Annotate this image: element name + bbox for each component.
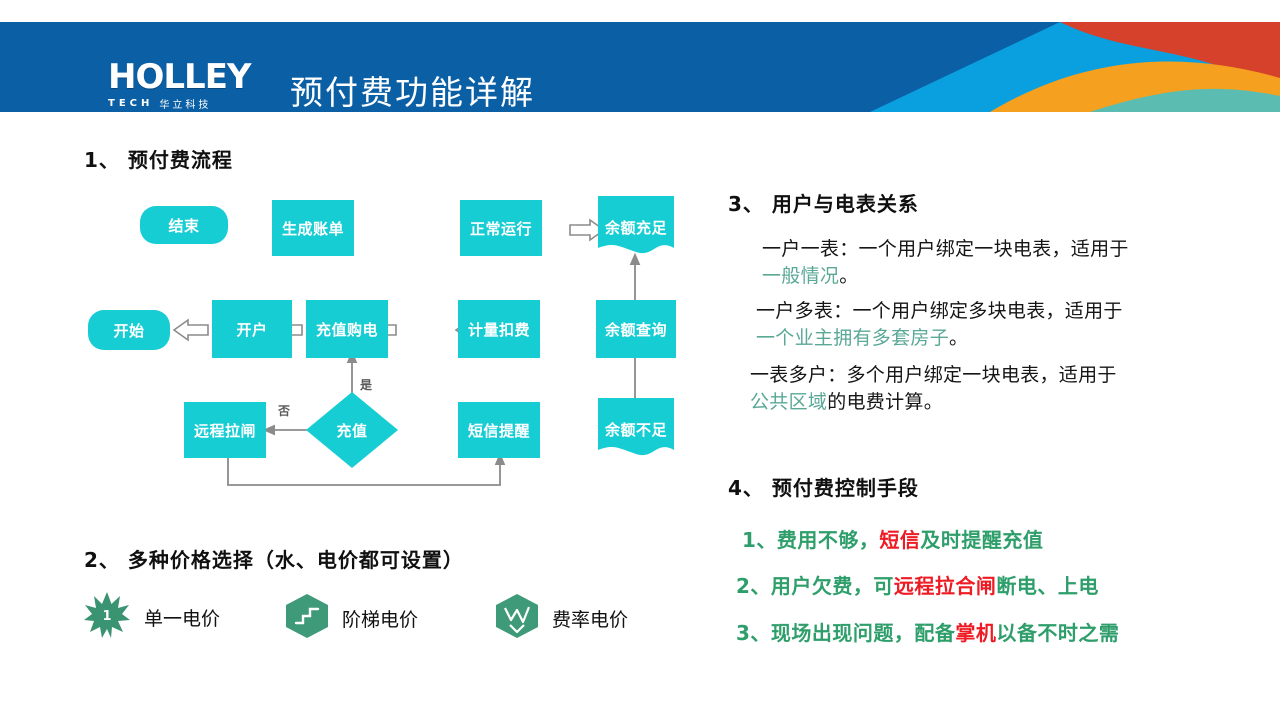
flow-node-sms-reminder: 短信提醒 bbox=[458, 402, 540, 458]
control-item-1: 1、费用不够，短信及时提醒充值 bbox=[742, 524, 1043, 553]
flow-node-start-label: 开始 bbox=[113, 320, 144, 341]
flow-node-balance-sufficient: 余额充足 bbox=[598, 196, 674, 258]
price-option-rate: 费率电价 bbox=[496, 594, 628, 642]
flow-node-open-account: 开户 bbox=[212, 300, 292, 358]
control-item-3-highlight: 掌机 bbox=[955, 621, 996, 645]
flow-node-sms-reminder-label: 短信提醒 bbox=[468, 420, 530, 441]
price-option-tiered-label: 阶梯电价 bbox=[342, 605, 418, 632]
price-option-rate-label: 费率电价 bbox=[552, 605, 628, 632]
relation-item-many-to-one-highlight: 公共区域 bbox=[750, 391, 827, 413]
price-option-single: 1 单一电价 bbox=[84, 592, 220, 642]
section-heading-prepay-flow: 1、 预付费流程 bbox=[84, 144, 233, 173]
control-item-2-post: 断电、上电 bbox=[996, 574, 1099, 598]
page-title: 预付费功能详解 bbox=[290, 66, 535, 112]
control-item-2-highlight: 远程拉合闸 bbox=[894, 574, 997, 598]
control-item-1-number: 1、 bbox=[742, 528, 777, 552]
control-item-1-post: 及时提醒充值 bbox=[920, 528, 1043, 552]
flow-node-balance-insufficient: 余额不足 bbox=[598, 398, 674, 460]
starburst-icon-badge: 1 bbox=[102, 609, 111, 624]
header-decoration bbox=[760, 22, 1280, 112]
starburst-icon: 1 bbox=[84, 592, 130, 642]
control-item-2-pre: 用户欠费，可 bbox=[771, 574, 894, 598]
slide-root: HOLLEY TECH 华立科技 预付费功能详解 1、 预付费流程 2、 多种价… bbox=[0, 0, 1280, 720]
logo-chinese-text: 华立科技 bbox=[159, 96, 211, 111]
flow-node-start: 开始 bbox=[88, 310, 170, 350]
prepay-flowchart: 结束 生成账单 正常运行 余额充足 开始 开户 充值购电 计量扣费 余额查询 bbox=[80, 180, 700, 500]
flow-node-remote-trip-label: 远程拉闸 bbox=[194, 420, 256, 441]
flow-node-open-account-label: 开户 bbox=[236, 319, 267, 340]
flow-node-metering-deduction: 计量扣费 bbox=[458, 300, 540, 358]
relation-item-one-to-one-highlight: 一般情况 bbox=[762, 265, 839, 287]
relation-item-many-to-one-suffix: 的电费计算。 bbox=[827, 391, 943, 413]
flow-node-recharge-purchase-label: 充值购电 bbox=[316, 319, 378, 340]
control-item-3-number: 3、 bbox=[736, 621, 771, 645]
flow-node-topup-decision: 充值 bbox=[306, 392, 398, 468]
flow-node-normal-operation-label: 正常运行 bbox=[470, 218, 532, 239]
flow-node-generate-bill: 生成账单 bbox=[272, 200, 354, 256]
flow-node-topup-decision-label: 充值 bbox=[336, 420, 367, 441]
hexagon-rate-icon bbox=[496, 594, 538, 642]
flow-node-balance-insufficient-label: 余额不足 bbox=[605, 419, 667, 440]
logo-wordmark: HOLLEY bbox=[108, 60, 268, 94]
relation-item-one-to-one: 一户一表：一个用户绑定一块电表，适用于一般情况。 bbox=[762, 236, 1142, 290]
relation-item-many-to-one: 一表多户：多个用户绑定一块电表，适用于公共区域的电费计算。 bbox=[750, 362, 1130, 416]
flow-node-generate-bill-label: 生成账单 bbox=[282, 218, 344, 239]
brand-logo: HOLLEY TECH 华立科技 bbox=[108, 60, 268, 112]
relation-item-one-to-one-suffix: 。 bbox=[839, 265, 858, 287]
logo-tech-text: TECH bbox=[108, 98, 153, 109]
flow-node-balance-sufficient-label: 余额充足 bbox=[605, 217, 667, 238]
section-heading-control-methods: 4、 预付费控制手段 bbox=[728, 472, 919, 501]
flow-node-recharge-purchase: 充值购电 bbox=[306, 300, 388, 358]
logo-subtitle: TECH 华立科技 bbox=[108, 96, 268, 111]
section-heading-user-meter-relation: 3、 用户与电表关系 bbox=[728, 188, 919, 217]
relation-item-many-to-one-prefix: 一表多户：多个用户绑定一块电表，适用于 bbox=[750, 364, 1117, 386]
price-option-single-label: 单一电价 bbox=[144, 604, 220, 631]
control-item-2-number: 2、 bbox=[736, 574, 771, 598]
slide-header: HOLLEY TECH 华立科技 预付费功能详解 bbox=[0, 22, 1280, 112]
price-option-tiered: 阶梯电价 bbox=[286, 594, 418, 642]
flow-node-balance-query-label: 余额查询 bbox=[605, 319, 667, 340]
section-heading-price-options: 2、 多种价格选择（水、电价都可设置） bbox=[84, 544, 464, 573]
relation-item-one-to-one-prefix: 一户一表：一个用户绑定一块电表，适用于 bbox=[762, 238, 1129, 260]
control-item-2: 2、用户欠费，可远程拉合闸断电、上电 bbox=[736, 570, 1099, 599]
relation-item-one-to-many-prefix: 一户多表：一个用户绑定多块电表，适用于 bbox=[756, 300, 1123, 322]
price-options-row: 1 单一电价 阶梯电价 费率电价 bbox=[84, 592, 684, 648]
flow-node-balance-query: 余额查询 bbox=[596, 300, 676, 358]
flow-node-end-label: 结束 bbox=[168, 215, 199, 236]
relation-item-one-to-many: 一户多表：一个用户绑定多块电表，适用于一个业主拥有多套房子。 bbox=[756, 298, 1136, 352]
control-item-1-pre: 费用不够， bbox=[777, 528, 880, 552]
control-item-3: 3、现场出现问题，配备掌机以备不时之需 bbox=[736, 617, 1119, 646]
flow-node-metering-deduction-label: 计量扣费 bbox=[468, 319, 530, 340]
control-item-3-pre: 现场出现问题，配备 bbox=[771, 621, 956, 645]
control-item-1-highlight: 短信 bbox=[879, 528, 920, 552]
flow-node-normal-operation: 正常运行 bbox=[460, 200, 542, 256]
relation-item-one-to-many-highlight: 一个业主拥有多套房子 bbox=[756, 327, 949, 349]
relation-item-one-to-many-suffix: 。 bbox=[949, 327, 968, 349]
flow-label-no: 否 bbox=[278, 402, 290, 419]
control-item-3-post: 以备不时之需 bbox=[996, 621, 1119, 645]
hexagon-steps-icon bbox=[286, 594, 328, 642]
flow-node-remote-trip: 远程拉闸 bbox=[184, 402, 266, 458]
flow-label-yes: 是 bbox=[360, 376, 372, 393]
flow-node-end: 结束 bbox=[140, 206, 228, 244]
